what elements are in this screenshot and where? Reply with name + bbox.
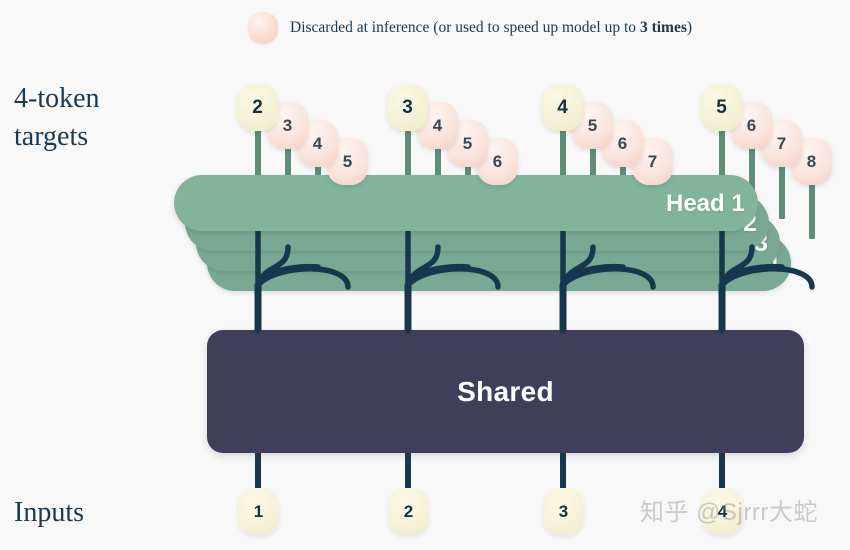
watermark: 知乎 @Sjrrr大蛇 bbox=[640, 492, 818, 527]
target-stem bbox=[779, 165, 785, 219]
diagram-canvas: Discarded at inference (or used to speed… bbox=[0, 0, 850, 550]
legend-text: Discarded at inference (or used to speed… bbox=[290, 19, 692, 37]
head-front-label: Head 1 bbox=[666, 190, 745, 218]
shared-label: Shared bbox=[457, 376, 554, 408]
input-node[interactable]: 1 bbox=[238, 488, 279, 535]
input-node[interactable]: 2 bbox=[388, 488, 429, 535]
shared-trunk-block[interactable]: Shared bbox=[207, 330, 804, 453]
target-token-kept[interactable]: 2 bbox=[237, 84, 278, 131]
target-token-kept[interactable]: 3 bbox=[387, 84, 428, 131]
legend-text-emphasis: 3 times bbox=[640, 19, 687, 36]
input-wire bbox=[719, 453, 725, 491]
input-wire bbox=[405, 453, 411, 491]
target-token-kept[interactable]: 5 bbox=[701, 84, 742, 131]
input-node[interactable]: 3 bbox=[543, 488, 584, 535]
target-token-kept[interactable]: 4 bbox=[542, 84, 583, 131]
input-wire bbox=[560, 453, 566, 491]
targets-label: 4-token targets bbox=[14, 80, 100, 156]
target-stem bbox=[809, 183, 815, 239]
input-wire bbox=[255, 453, 261, 491]
target-stem bbox=[560, 129, 566, 179]
target-stem bbox=[719, 129, 725, 179]
legend-text-prefix: Discarded at inference (or used to speed… bbox=[290, 19, 640, 36]
targets-label-line2: targets bbox=[14, 118, 100, 156]
targets-label-line1: 4-token bbox=[14, 80, 100, 118]
inputs-label: Inputs bbox=[14, 494, 84, 532]
target-stem bbox=[405, 129, 411, 179]
target-stem bbox=[255, 129, 261, 179]
legend-text-suffix: ) bbox=[687, 19, 692, 36]
discarded-token-swatch-icon bbox=[248, 12, 278, 44]
legend: Discarded at inference (or used to speed… bbox=[248, 12, 692, 44]
